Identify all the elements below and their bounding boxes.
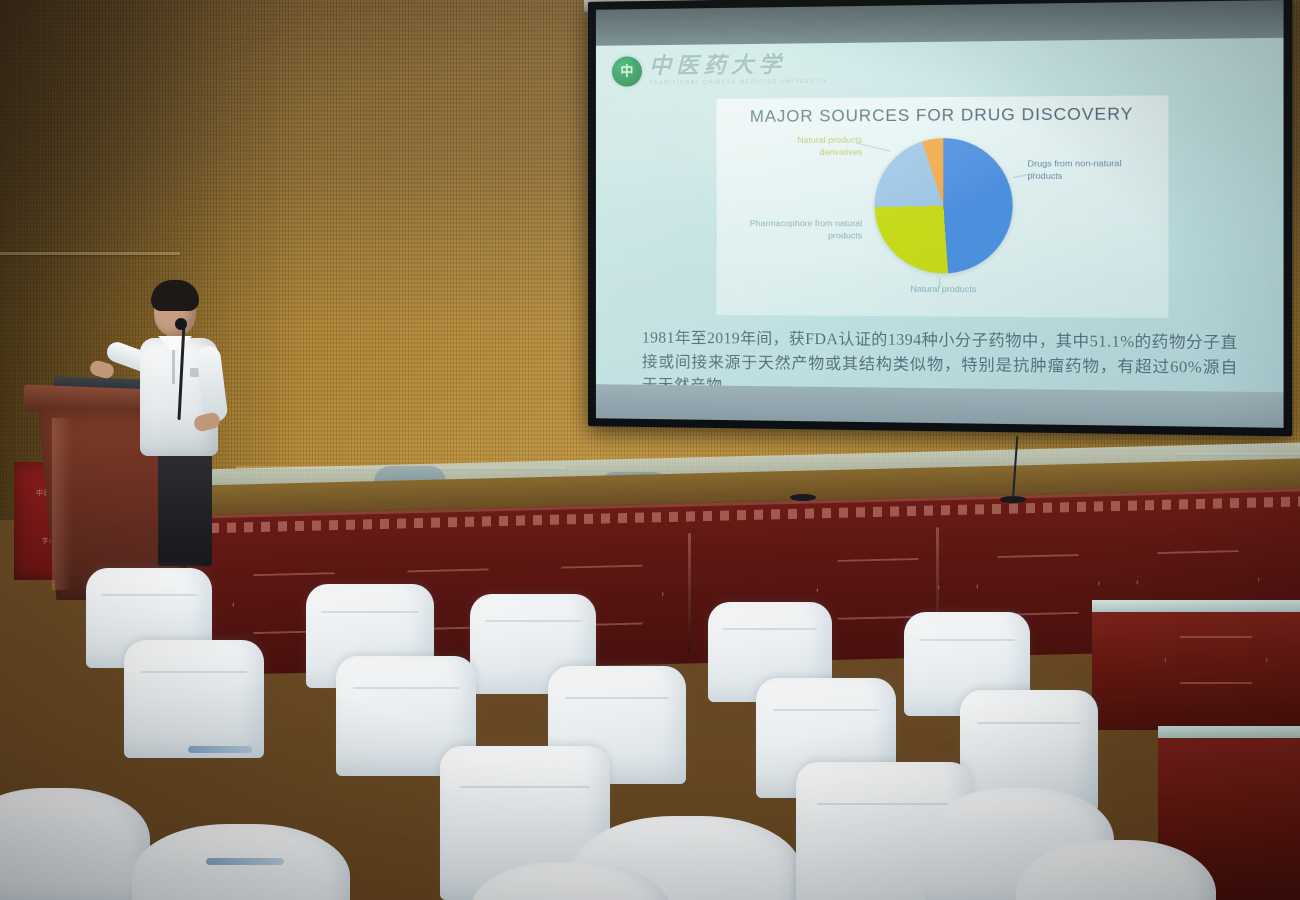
chair-cover — [124, 640, 264, 758]
pie-chart — [875, 138, 1013, 274]
slide-surface: 中 中医药大学 TRADITIONAL CHINESE MEDICINE UNI… — [596, 38, 1284, 394]
audience-shoulder-trim — [206, 858, 284, 865]
wall-seam-upper — [0, 252, 180, 255]
audience-shoulders — [0, 788, 150, 900]
lecture-hall-photo: 中 中医药大学 TRADITIONAL CHINESE MEDICINE UNI… — [0, 0, 1300, 900]
chair-cover-fold — [485, 620, 581, 622]
university-logo: 中 中医药大学 TRADITIONAL CHINESE MEDICINE UNI… — [612, 53, 828, 86]
podium-microphone-head — [175, 318, 187, 330]
label-natural-products: Natural products — [860, 283, 1027, 296]
chair-cover-fold — [321, 611, 418, 613]
chair-cover-fold — [723, 628, 817, 630]
chart-title: MAJOR SOURCES FOR DRUG DISCOVERY — [717, 105, 1169, 127]
chair-cover-fold — [101, 594, 197, 596]
chair-cover-fold — [977, 722, 1082, 724]
presenter — [128, 276, 258, 576]
chair-cover-fold — [817, 803, 951, 805]
chair-cover-fold — [141, 671, 247, 673]
chart-card: MAJOR SOURCES FOR DRUG DISCOVERY Drugs f… — [717, 95, 1169, 318]
audience-seat — [124, 640, 264, 758]
logo-emblem-icon: 中 — [612, 56, 642, 86]
logo-badge-glyph: 中 — [620, 64, 633, 77]
chair-cover-fold — [460, 786, 589, 788]
slide-body-text: 1981年至2019年间，获FDA认证的1394种小分子药物中，其中51.1%的… — [642, 326, 1238, 394]
presenter-shirt-placket — [172, 348, 175, 384]
projection-screen: 中 中医药大学 TRADITIONAL CHINESE MEDICINE UNI… — [578, 0, 1299, 445]
chair-cover-fold — [773, 709, 879, 711]
pie-slices — [875, 138, 1013, 274]
label-non-natural-products: Drugs from non-natural products — [1027, 158, 1131, 182]
audience-seating — [0, 540, 1300, 900]
label-pharmacophore: Pharmacophore from natural products — [731, 218, 862, 242]
chair-cover-fold — [919, 639, 1015, 641]
chair-cover-fold — [565, 697, 670, 699]
presenter-hair — [151, 280, 199, 311]
chair-cover-fold — [353, 687, 459, 689]
logo-institution-en: TRADITIONAL CHINESE MEDICINE UNIVERSITY — [649, 79, 828, 87]
audience-shoulder-trim — [188, 746, 252, 753]
logo-institution-cn: 中医药大学 — [649, 53, 828, 77]
table-microphone-base — [790, 494, 816, 501]
label-natural-derivatives: Natural products derivatives — [755, 134, 862, 158]
